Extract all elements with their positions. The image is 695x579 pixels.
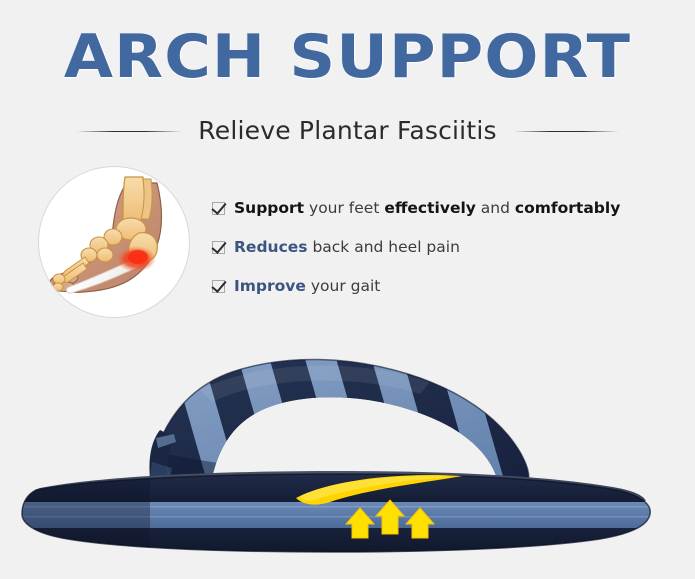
product-image-flip-flop	[0, 330, 695, 579]
benefit-text: Reduces back and heel pain	[234, 237, 460, 258]
list-item: Improve your gait	[212, 276, 682, 297]
infographic-canvas: ARCH SUPPORT Relieve Plantar Fasciitis	[0, 0, 695, 579]
subtitle-row: Relieve Plantar Fasciitis	[0, 116, 695, 146]
divider-right	[513, 131, 619, 132]
divider-left	[76, 131, 182, 132]
benefit-text: Improve your gait	[234, 276, 380, 297]
page-subtitle: Relieve Plantar Fasciitis	[198, 116, 496, 146]
list-item: Reduces back and heel pain	[212, 237, 682, 258]
checkbox-checked-icon	[212, 202, 225, 215]
checkbox-checked-icon	[212, 280, 225, 293]
foot-anatomy-illustration	[38, 166, 190, 318]
benefits-list: Support your feet effectively and comfor…	[212, 198, 682, 315]
sandal-sole	[0, 470, 695, 560]
list-item: Support your feet effectively and comfor…	[212, 198, 682, 219]
page-title: ARCH SUPPORT	[0, 26, 695, 88]
benefit-text: Support your feet effectively and comfor…	[234, 198, 620, 219]
checkbox-checked-icon	[212, 241, 225, 254]
